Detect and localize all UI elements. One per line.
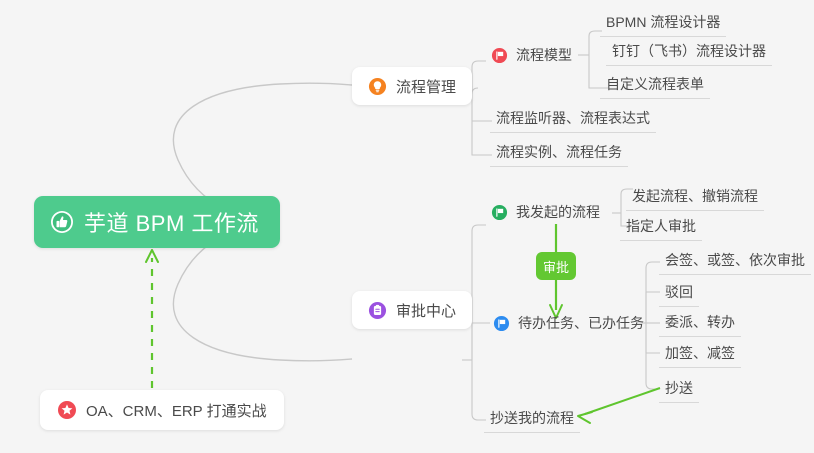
branch-card-process-management[interactable]: 流程管理 bbox=[352, 67, 472, 105]
root-label: 芋道 BPM 工作流 bbox=[84, 206, 259, 238]
mindmap-canvas: 芋道 BPM 工作流 OA、CRM、ERP 打通实战 审批 流程管理 bbox=[0, 0, 814, 453]
approval-tag-badge[interactable]: 审批 bbox=[536, 252, 576, 280]
leaf-start-cancel-process[interactable]: 发起流程、撤销流程 bbox=[626, 186, 764, 211]
root-node[interactable]: 芋道 BPM 工作流 bbox=[34, 196, 280, 248]
node-label-process-model: 流程模型 bbox=[516, 45, 572, 65]
branch-label-approval-center: 审批中心 bbox=[396, 300, 456, 321]
flag-icon bbox=[491, 204, 508, 221]
leaf-countersign-orsign-sequential[interactable]: 会签、或签、依次审批 bbox=[659, 250, 811, 275]
leaf-process-instance-task[interactable]: 流程实例、流程任务 bbox=[490, 142, 628, 167]
node-my-initiated-process[interactable]: 我发起的流程 bbox=[491, 201, 600, 223]
star-icon bbox=[57, 400, 77, 420]
leaf-cc[interactable]: 抄送 bbox=[659, 378, 699, 403]
node-process-model[interactable]: 流程模型 bbox=[491, 44, 572, 66]
callout-label: OA、CRM、ERP 打通实战 bbox=[86, 400, 267, 421]
node-label-todo-done-tasks: 待办任务、已办任务 bbox=[518, 313, 644, 333]
leaf-dingtalk-feishu-designer[interactable]: 钉钉（飞书）流程设计器 bbox=[606, 41, 772, 66]
lightbulb-icon bbox=[368, 77, 387, 96]
branch-label-process-management: 流程管理 bbox=[396, 76, 456, 97]
callout-node[interactable]: OA、CRM、ERP 打通实战 bbox=[40, 390, 284, 430]
clipboard-icon bbox=[368, 301, 387, 320]
approval-tag-label: 审批 bbox=[543, 257, 569, 276]
node-todo-done-tasks[interactable]: 待办任务、已办任务 bbox=[493, 312, 644, 334]
node-label-my-initiated-process: 我发起的流程 bbox=[516, 202, 600, 222]
branch-card-approval-center[interactable]: 审批中心 bbox=[352, 291, 472, 329]
leaf-bpmn-designer[interactable]: BPMN 流程设计器 bbox=[600, 12, 726, 37]
leaf-custom-process-form[interactable]: 自定义流程表单 bbox=[600, 74, 710, 99]
leaf-add-remove-sign[interactable]: 加签、减签 bbox=[659, 343, 741, 368]
leaf-reject[interactable]: 驳回 bbox=[659, 282, 699, 307]
thumbs-up-icon bbox=[50, 210, 74, 234]
leaf-assignee-approval[interactable]: 指定人审批 bbox=[620, 216, 702, 241]
flag-icon bbox=[491, 47, 508, 64]
leaf-process-listener-expression[interactable]: 流程监听器、流程表达式 bbox=[490, 108, 656, 133]
leaf-delegate-transfer[interactable]: 委派、转办 bbox=[659, 312, 741, 337]
flag-icon bbox=[493, 315, 510, 332]
leaf-cc-to-me-process[interactable]: 抄送我的流程 bbox=[484, 408, 580, 433]
